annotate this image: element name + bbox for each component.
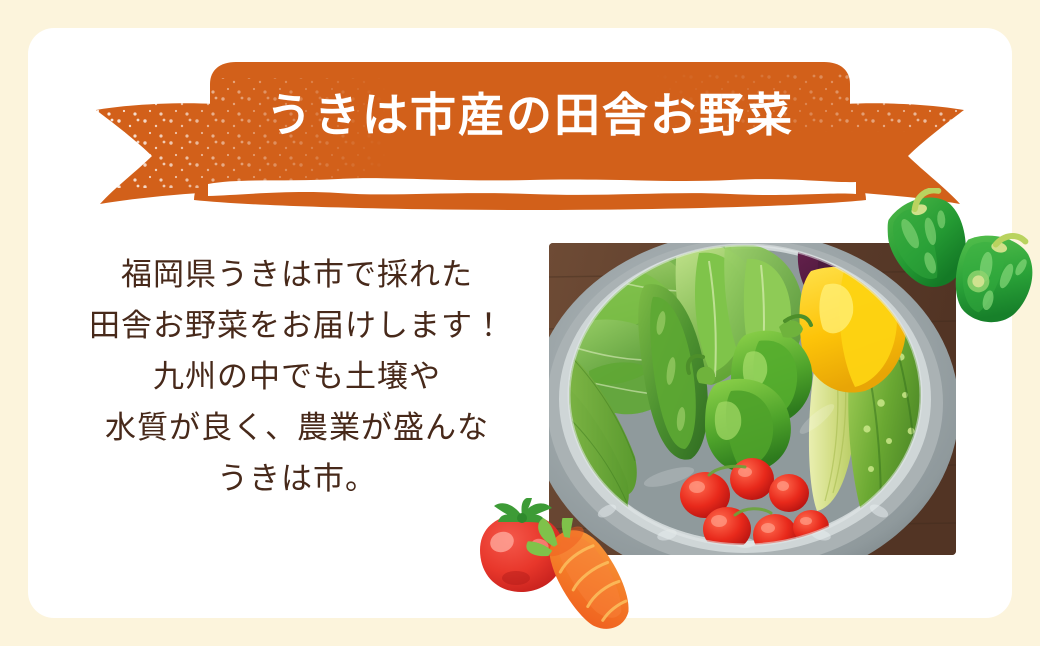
description-line-1: 福岡県うきは市で採れた <box>62 250 532 301</box>
description-line-4: 水質が良く、農業が盛んな <box>62 403 532 454</box>
vegetable-photo <box>549 243 956 555</box>
ribbon-banner: うきは市産の田舎お野菜 <box>90 52 970 212</box>
description-text: 福岡県うきは市で採れた 田舎お野菜をお届けします！ 九州の中でも土壌や 水質が良… <box>62 250 532 505</box>
description-line-5: うきは市。 <box>62 454 532 505</box>
vegetable-photo-image <box>549 243 956 555</box>
page-title: うきは市産の田舎お野菜 <box>90 84 970 146</box>
description-line-2: 田舎お野菜をお届けします！ <box>62 301 532 352</box>
content-card: うきは市産の田舎お野菜 福岡県うきは市で採れた 田舎お野菜をお届けします！ 九州… <box>28 28 1012 618</box>
description-line-3: 九州の中でも土壌や <box>62 352 532 403</box>
